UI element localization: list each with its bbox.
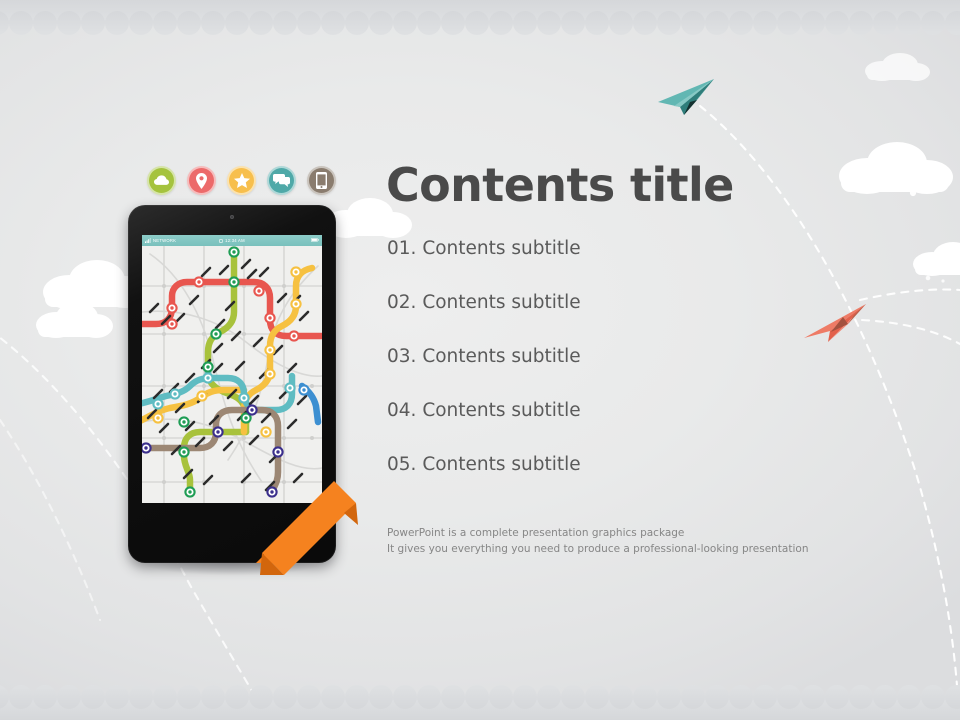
list-item[interactable]: 05. Contents subtitle (387, 454, 807, 508)
list-item[interactable]: 01. Contents subtitle (387, 238, 807, 292)
status-bar: NETWORK 12:34 AM (142, 235, 322, 246)
chat-icon[interactable] (267, 166, 296, 195)
list-item-number: 01. (387, 238, 416, 259)
footnote: PowerPoint is a complete presentation gr… (387, 525, 808, 557)
list-item-number: 03. (387, 346, 416, 367)
list-item-number: 04. (387, 400, 416, 421)
front-camera-icon (230, 215, 234, 219)
scalloped-top-border (0, 0, 960, 44)
list-item-label: Contents subtitle (422, 238, 580, 259)
list-item[interactable]: 02. Contents subtitle (387, 292, 807, 346)
contents-list: 01. Contents subtitle 02. Contents subti… (387, 238, 807, 508)
subway-map[interactable] (142, 246, 322, 503)
list-item-number: 05. (387, 454, 416, 475)
status-time: 12:34 AM (225, 238, 245, 243)
slide-canvas: NETWORK 12:34 AM (0, 0, 960, 720)
tablet-body: NETWORK 12:34 AM (128, 205, 336, 563)
cloud-shape (862, 52, 932, 82)
cloud-shape (833, 140, 958, 198)
list-item-label: Contents subtitle (422, 454, 580, 475)
tablet-device: NETWORK 12:34 AM (128, 205, 336, 563)
list-item-label: Contents subtitle (422, 292, 580, 313)
footnote-line-2: It gives you everything you need to prod… (387, 541, 808, 557)
tablet-screen[interactable]: NETWORK 12:34 AM (142, 235, 322, 503)
list-item-label: Contents subtitle (422, 346, 580, 367)
paper-plane-teal (650, 76, 716, 123)
list-item-number: 02. (387, 292, 416, 313)
feature-icon-row (147, 166, 336, 195)
list-item-label: Contents subtitle (422, 400, 580, 421)
scalloped-bottom-border (0, 676, 960, 720)
clock-icon (219, 239, 223, 243)
list-item[interactable]: 03. Contents subtitle (387, 346, 807, 400)
page-title: Contents title (386, 158, 734, 212)
footnote-line-1: PowerPoint is a complete presentation gr… (387, 525, 808, 541)
cloud-icon[interactable] (147, 166, 176, 195)
cloud-shape (910, 240, 960, 278)
list-item[interactable]: 04. Contents subtitle (387, 400, 807, 454)
paper-plane-red (798, 298, 868, 349)
status-bar-center: 12:34 AM (142, 238, 322, 243)
star-icon[interactable] (227, 166, 256, 195)
location-icon[interactable] (187, 166, 216, 195)
cloud-shape (32, 300, 114, 340)
mobile-icon[interactable] (307, 166, 336, 195)
